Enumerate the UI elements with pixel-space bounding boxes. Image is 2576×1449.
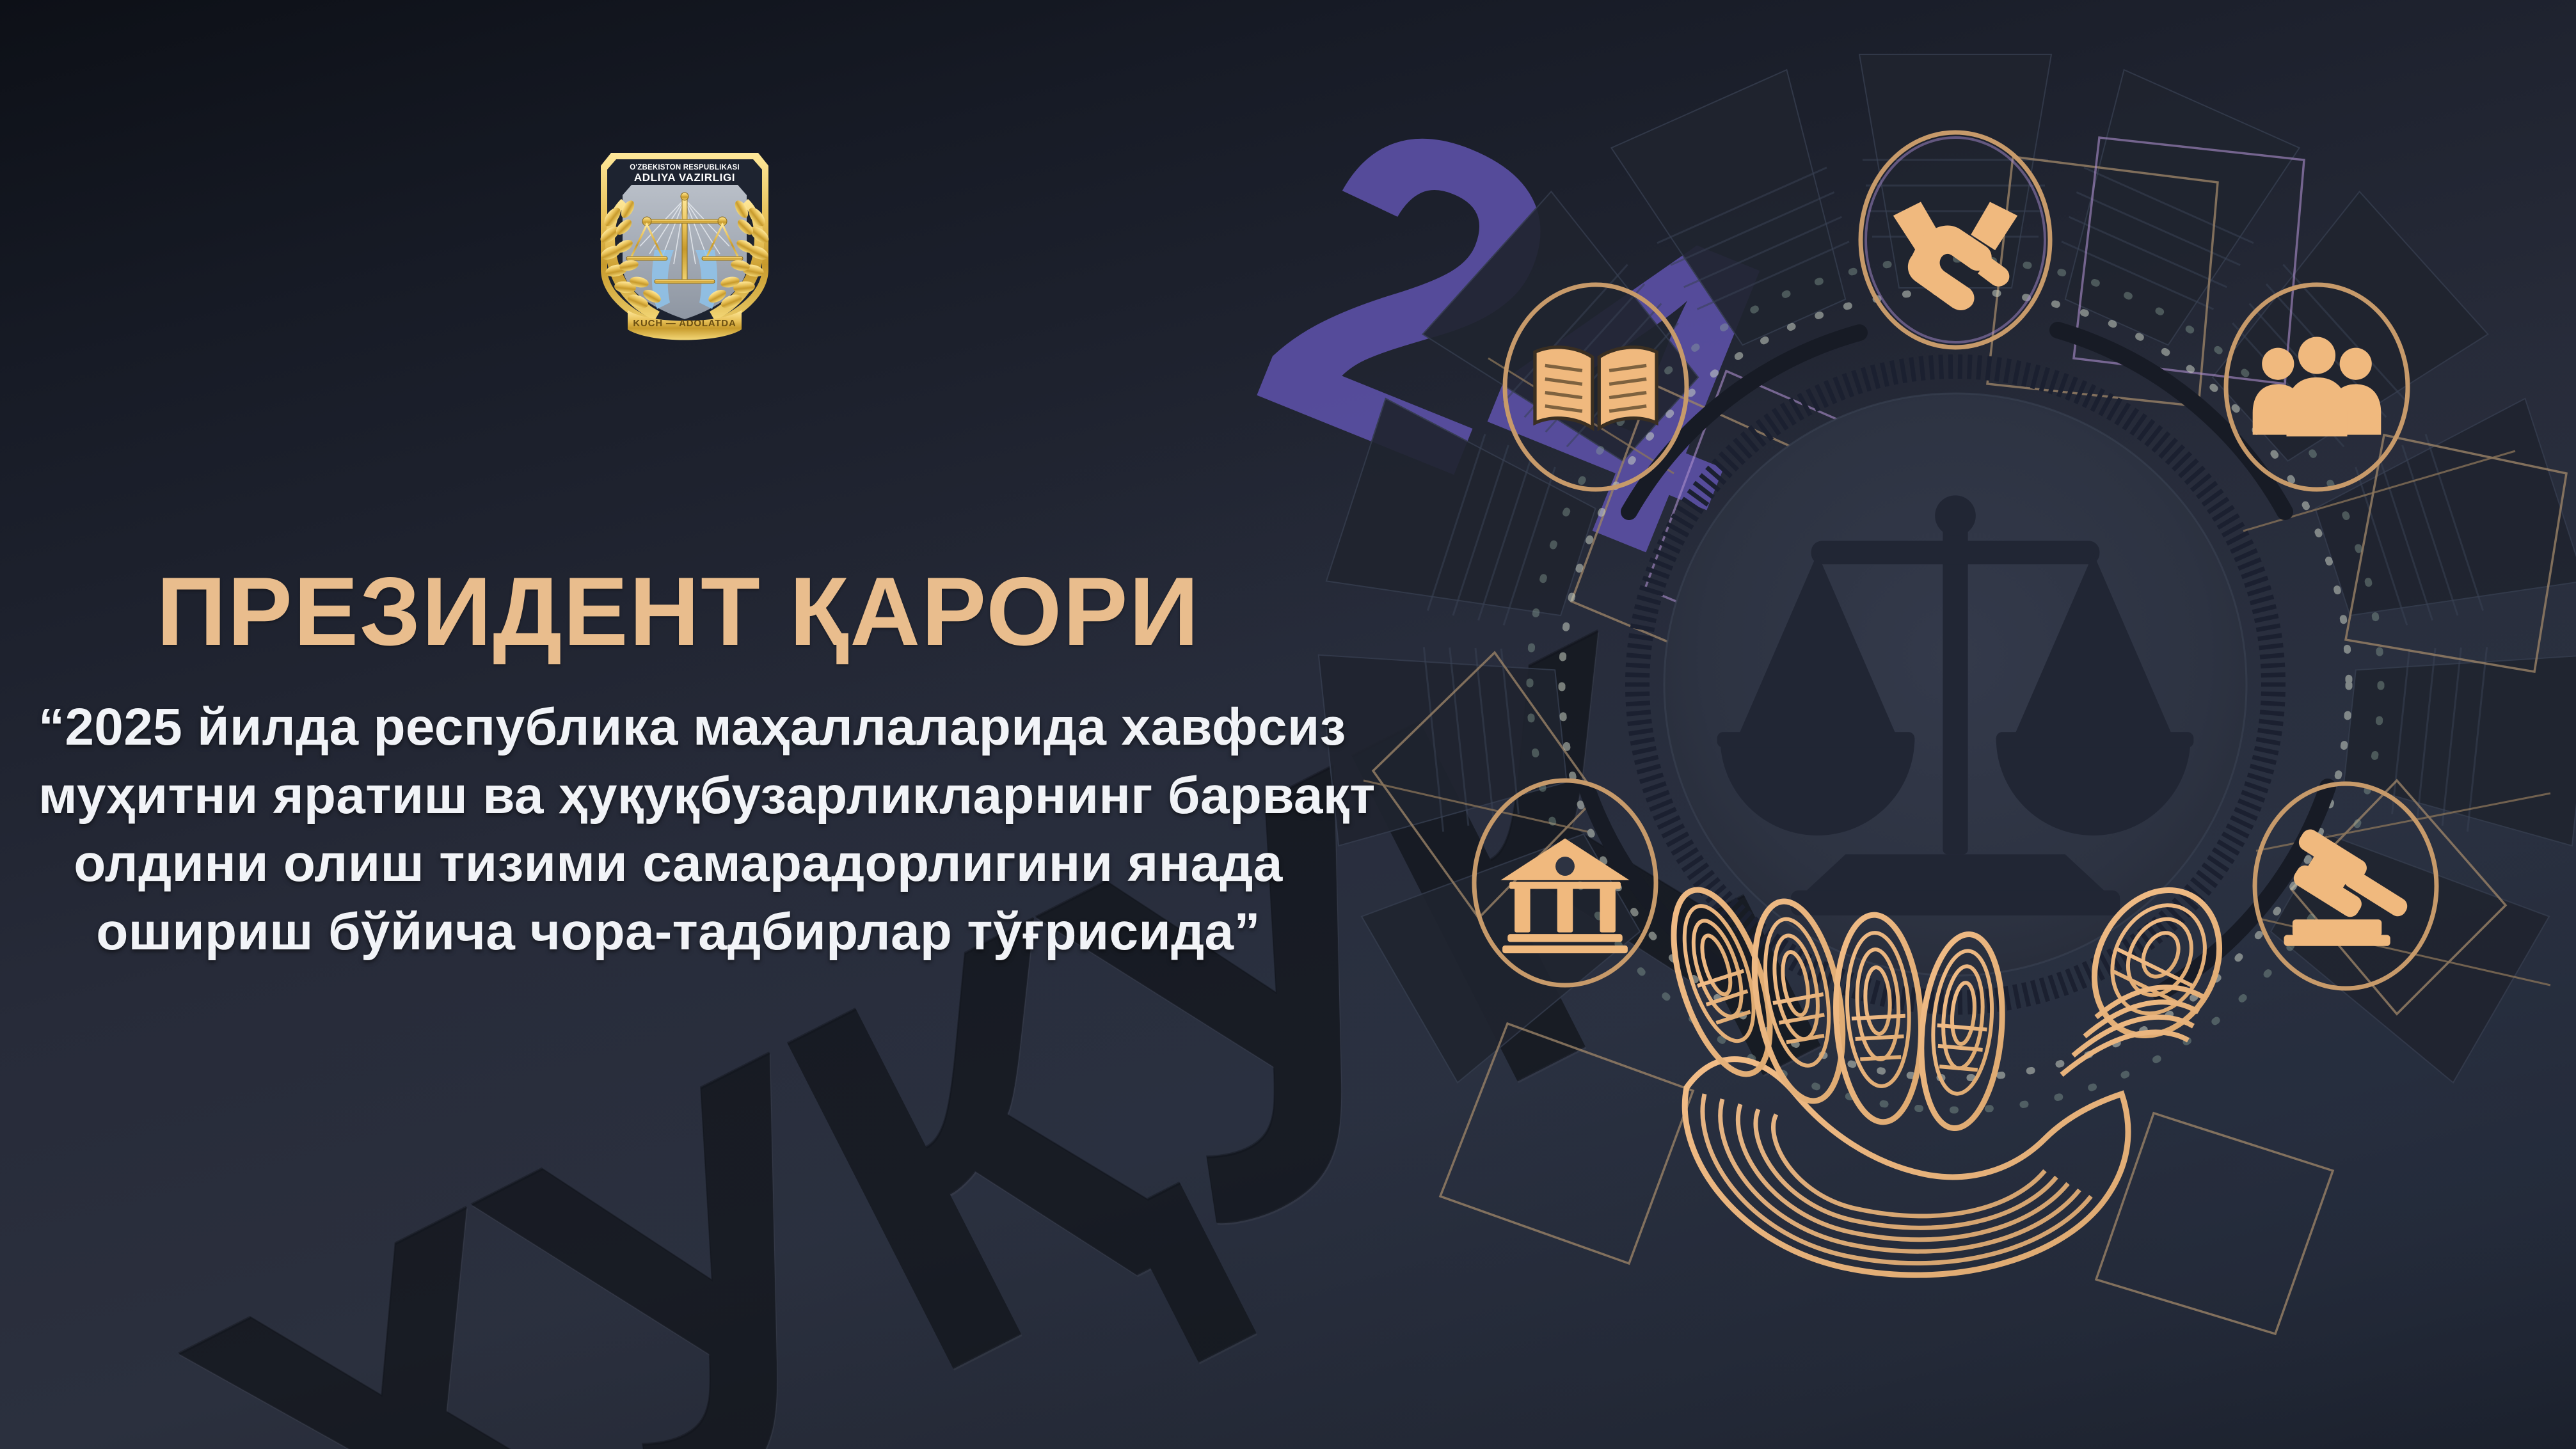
subtitle-line-1: “2025 йилда республика маҳаллаларида хав…	[38, 693, 1318, 762]
subtitle-line-3: олдини олиш тизими самарадорлигини янада	[38, 830, 1318, 898]
emblem-main-line: ADLIYA VAZIRLIGI	[634, 171, 735, 184]
ministry-emblem: O'ZBEKISTON RESPUBLIKASI ADLIYA VAZIRLIG…	[579, 138, 790, 349]
poster-canvas: ҲУҚУҚ 24	[0, 0, 2576, 1449]
people-group-icon	[2253, 337, 2381, 437]
subtitle-line-4: ошириш бўйича чора-тадбирлар тўғрисида”	[38, 898, 1318, 967]
emblem-top-line: O'ZBEKISTON RESPUBLIKASI	[630, 164, 740, 171]
emblem-motto: KUCH — ADOLATDA	[633, 318, 736, 329]
decree-subtitle: “2025 йилда республика маҳаллаларида хав…	[0, 693, 1356, 966]
title-block: ПРЕЗИДЕНТ ҚАРОРИ “2025 йилда республика …	[0, 563, 1356, 966]
justice-circle-graphic	[1296, 26, 2576, 1449]
page-title: ПРЕЗИДЕНТ ҚАРОРИ	[0, 563, 1356, 660]
subtitle-line-2: муҳитни яратиш ва ҳуқуқбузарликларнинг б…	[38, 762, 1318, 830]
